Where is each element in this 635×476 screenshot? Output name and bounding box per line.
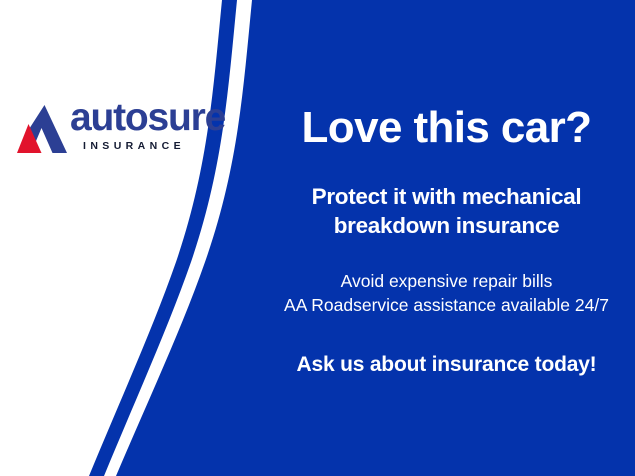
- autosure-wordmark: autosure: [70, 96, 225, 140]
- autosure-mountain-mark-icon: [14, 100, 70, 156]
- benefit-line-2: AA Roadservice assistance available 24/7: [258, 293, 635, 317]
- benefit-line-1: Avoid expensive repair bills: [258, 269, 635, 293]
- banner-copy-block: Love this car? Protect it with mechanica…: [258, 0, 635, 476]
- autosure-wordmark-group: autosure INSURANCE: [70, 96, 220, 158]
- subheading-line-2: breakdown insurance: [334, 213, 560, 238]
- headline: Love this car?: [258, 103, 635, 153]
- autosure-logo-subtext: INSURANCE: [83, 140, 185, 152]
- subheading-line-1: Protect it with mechanical: [312, 184, 582, 209]
- call-to-action-text: Ask us about insurance today!: [258, 351, 635, 379]
- autosure-insurance-banner: autosure INSURANCE Love this car? Protec…: [0, 0, 635, 476]
- autosure-logo: autosure INSURANCE: [14, 96, 214, 164]
- subheading: Protect it with mechanical breakdown ins…: [258, 182, 635, 240]
